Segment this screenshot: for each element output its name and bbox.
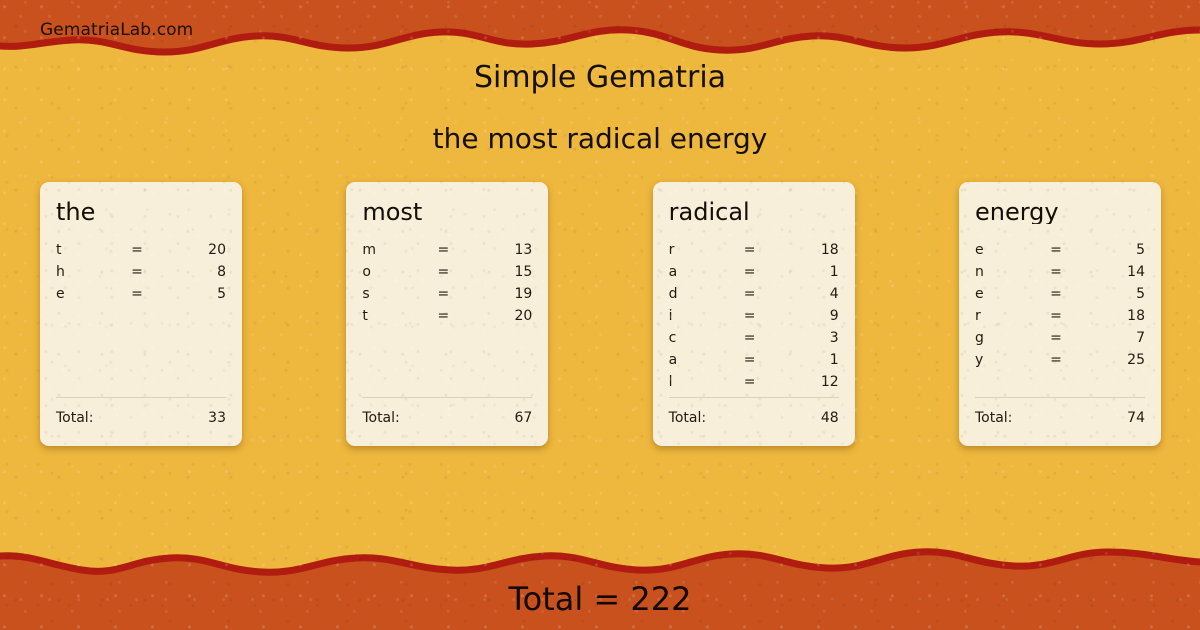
site-logo[interactable]: GematriaLab.com — [40, 20, 193, 40]
word-card: mostm=13o=15s=19t=20Total:67 — [346, 182, 548, 446]
equals-sign: = — [695, 264, 805, 280]
equals-sign: = — [695, 242, 805, 258]
letter-value: 1 — [805, 352, 839, 368]
letter-row: c=3 — [669, 330, 839, 352]
equals-sign: = — [695, 352, 805, 368]
letter-value-table: r=18a=1d=4i=9c=3a=1l=12 — [669, 242, 839, 397]
letter-label: r — [669, 242, 695, 258]
letter-row: o=15 — [362, 264, 532, 286]
letter-row: a=1 — [669, 352, 839, 374]
letter-value: 5 — [1111, 242, 1145, 258]
letter-value: 15 — [498, 264, 532, 280]
letter-value: 3 — [805, 330, 839, 346]
equals-sign: = — [388, 308, 498, 324]
card-total-row: Total:33 — [56, 397, 226, 426]
letter-row: y=25 — [975, 352, 1145, 374]
card-total-row: Total:48 — [669, 397, 839, 426]
letter-value: 18 — [805, 242, 839, 258]
letter-row: d=4 — [669, 286, 839, 308]
letter-label: d — [669, 286, 695, 302]
letter-label: n — [975, 264, 1001, 280]
letter-value: 5 — [192, 286, 226, 302]
letter-value: 7 — [1111, 330, 1145, 346]
equals-sign: = — [1001, 352, 1111, 368]
letter-row: r=18 — [975, 308, 1145, 330]
equals-sign: = — [695, 374, 805, 390]
word-card-list: thet=20h=8e=5Total:33mostm=13o=15s=19t=2… — [40, 182, 1161, 446]
card-word-label: radical — [669, 200, 839, 224]
letter-value: 12 — [805, 374, 839, 390]
word-card: thet=20h=8e=5Total:33 — [40, 182, 242, 446]
letter-row: s=19 — [362, 286, 532, 308]
letter-label: h — [56, 264, 82, 280]
equals-sign: = — [1001, 330, 1111, 346]
equals-sign: = — [1001, 242, 1111, 258]
equals-sign: = — [388, 242, 498, 258]
letter-label: s — [362, 286, 388, 302]
letter-label: e — [975, 242, 1001, 258]
letter-row: e=5 — [56, 286, 226, 308]
card-total-value: 33 — [208, 410, 226, 426]
letter-row: i=9 — [669, 308, 839, 330]
letter-row: e=5 — [975, 286, 1145, 308]
letter-row: g=7 — [975, 330, 1145, 352]
gematria-card-image: GematriaLab.com Simple Gematria the most… — [0, 0, 1200, 630]
letter-label: g — [975, 330, 1001, 346]
letter-label: l — [669, 374, 695, 390]
equals-sign: = — [1001, 286, 1111, 302]
card-total-label: Total: — [56, 410, 93, 426]
letter-value: 13 — [498, 242, 532, 258]
letter-row: t=20 — [56, 242, 226, 264]
letter-value: 20 — [498, 308, 532, 324]
letter-value-table: t=20h=8e=5 — [56, 242, 226, 397]
card-word-label: most — [362, 200, 532, 224]
letter-value: 25 — [1111, 352, 1145, 368]
grand-total: Total = 222 — [0, 580, 1200, 618]
letter-label: a — [669, 264, 695, 280]
page-title: Simple Gematria — [0, 60, 1200, 95]
equals-sign: = — [82, 286, 192, 302]
equals-sign: = — [388, 286, 498, 302]
letter-label: t — [362, 308, 388, 324]
card-word-label: energy — [975, 200, 1145, 224]
card-word-label: the — [56, 200, 226, 224]
letter-value: 8 — [192, 264, 226, 280]
letter-row: l=12 — [669, 374, 839, 396]
letter-label: o — [362, 264, 388, 280]
equals-sign: = — [82, 242, 192, 258]
letter-value: 9 — [805, 308, 839, 324]
card-total-label: Total: — [975, 410, 1012, 426]
equals-sign: = — [1001, 308, 1111, 324]
card-total-label: Total: — [362, 410, 399, 426]
letter-value: 19 — [498, 286, 532, 302]
letter-label: e — [56, 286, 82, 302]
letter-value: 5 — [1111, 286, 1145, 302]
letter-row: r=18 — [669, 242, 839, 264]
equals-sign: = — [695, 308, 805, 324]
card-total-row: Total:74 — [975, 397, 1145, 426]
letter-label: e — [975, 286, 1001, 302]
letter-value: 18 — [1111, 308, 1145, 324]
phrase-heading: the most radical energy — [0, 122, 1200, 155]
letter-value: 20 — [192, 242, 226, 258]
equals-sign: = — [388, 264, 498, 280]
letter-label: m — [362, 242, 388, 258]
card-total-row: Total:67 — [362, 397, 532, 426]
equals-sign: = — [695, 330, 805, 346]
card-total-value: 74 — [1127, 410, 1145, 426]
letter-label: y — [975, 352, 1001, 368]
letter-row: e=5 — [975, 242, 1145, 264]
letter-value: 14 — [1111, 264, 1145, 280]
letter-value-table: e=5n=14e=5r=18g=7y=25 — [975, 242, 1145, 397]
letter-label: i — [669, 308, 695, 324]
letter-row: n=14 — [975, 264, 1145, 286]
letter-label: a — [669, 352, 695, 368]
letter-row: m=13 — [362, 242, 532, 264]
card-total-value: 48 — [821, 410, 839, 426]
equals-sign: = — [1001, 264, 1111, 280]
letter-label: r — [975, 308, 1001, 324]
letter-value: 4 — [805, 286, 839, 302]
letter-value: 1 — [805, 264, 839, 280]
word-card: energye=5n=14e=5r=18g=7y=25Total:74 — [959, 182, 1161, 446]
card-total-label: Total: — [669, 410, 706, 426]
equals-sign: = — [695, 286, 805, 302]
letter-label: t — [56, 242, 82, 258]
letter-value-table: m=13o=15s=19t=20 — [362, 242, 532, 397]
letter-label: c — [669, 330, 695, 346]
card-total-value: 67 — [515, 410, 533, 426]
equals-sign: = — [82, 264, 192, 280]
word-card: radicalr=18a=1d=4i=9c=3a=1l=12Total:48 — [653, 182, 855, 446]
letter-row: h=8 — [56, 264, 226, 286]
letter-row: t=20 — [362, 308, 532, 330]
letter-row: a=1 — [669, 264, 839, 286]
